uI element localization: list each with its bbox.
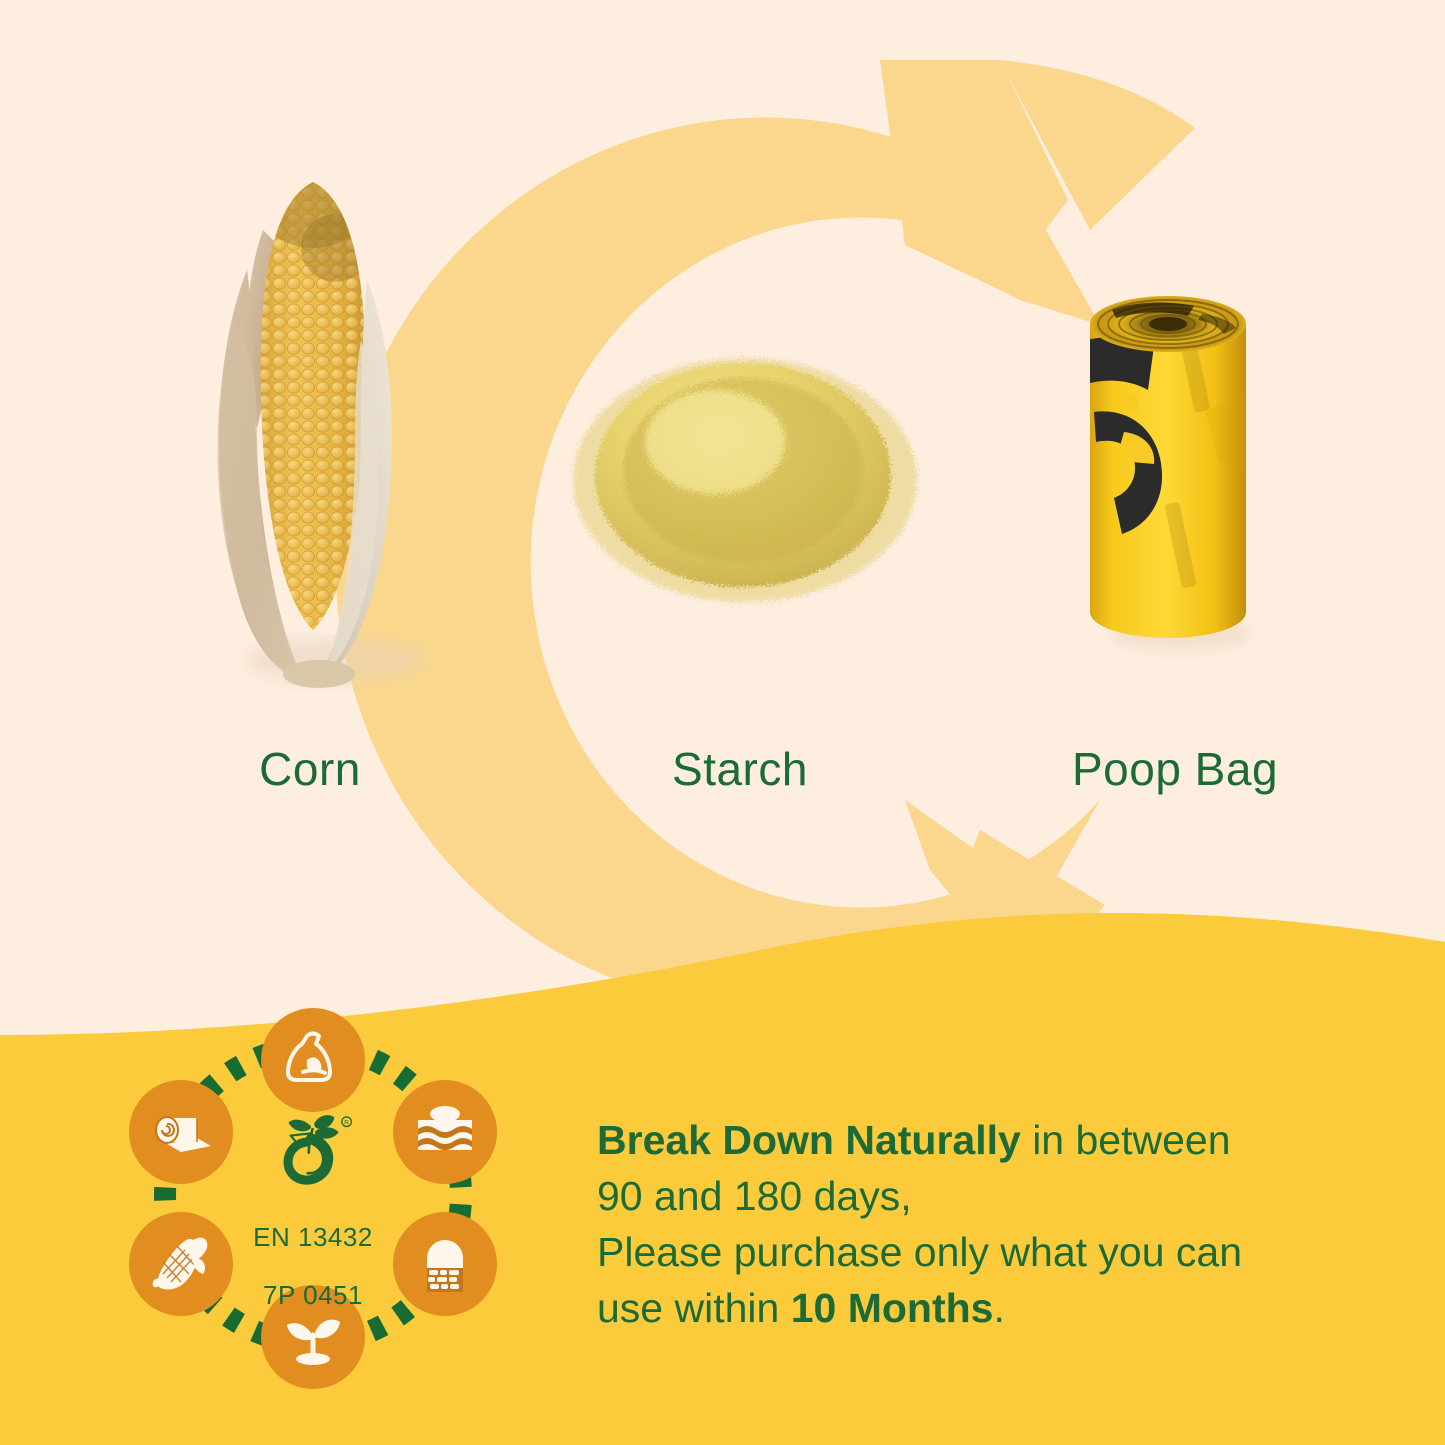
breakdown-claim-text: Break Down Naturally in between 90 and 1…: [597, 1112, 1367, 1336]
step-label-starch: Starch: [610, 742, 870, 796]
claim-line4-pre: use within: [597, 1285, 791, 1331]
compostable-certification-badge: R EN 13432 7P 0451: [118, 1000, 508, 1390]
cert-standard: EN 13432: [253, 1222, 373, 1252]
seedling-compostable-logo: R EN 13432 7P 0451: [213, 1110, 413, 1310]
certification-standard-code: EN 13432 7P 0451: [253, 1194, 373, 1310]
poop-bag-roll-image: [1068, 262, 1268, 662]
claim-line3: Please purchase only what you can: [597, 1229, 1242, 1275]
claim-line1-rest: in between: [1021, 1117, 1231, 1163]
corn-starch-image: [555, 330, 935, 610]
claim-line2: 90 and 180 days,: [597, 1173, 912, 1219]
seedling-glyph: R: [213, 1110, 413, 1190]
corn-cob-image: [185, 160, 435, 705]
svg-text:R: R: [344, 1119, 349, 1126]
cert-license: 7P 0451: [263, 1280, 363, 1310]
claim-line4-post: .: [993, 1285, 1004, 1331]
waste-bag-icon: [261, 1008, 365, 1112]
process-row: Corn Starch Poop Bag: [0, 0, 1445, 900]
claim-bold-months: 10 Months: [791, 1285, 994, 1331]
step-label-poop-bag: Poop Bag: [1040, 742, 1310, 796]
step-label-corn: Corn: [180, 742, 440, 796]
infographic-canvas: Corn Starch Poop Bag: [0, 0, 1445, 1445]
claim-bold-breakdown: Break Down Naturally: [597, 1117, 1021, 1163]
